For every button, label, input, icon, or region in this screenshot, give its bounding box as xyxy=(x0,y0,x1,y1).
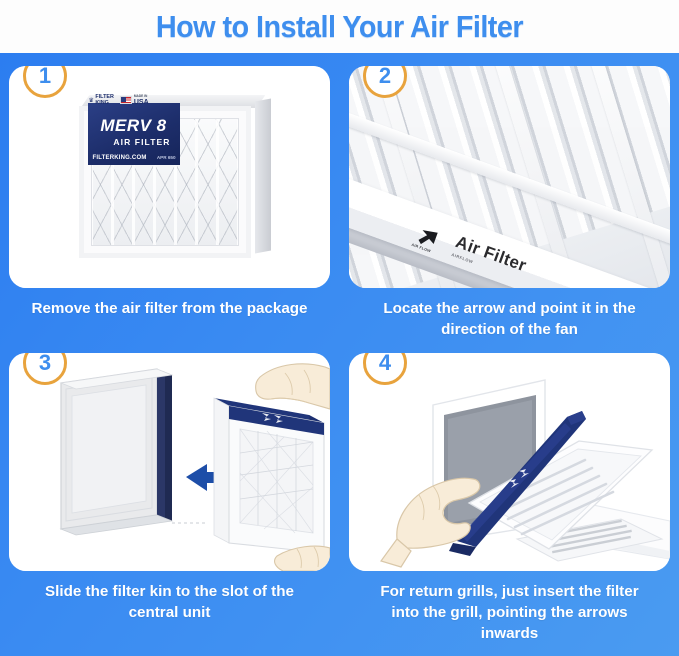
return-grille-diagram xyxy=(349,353,670,571)
page-header: How to Install Your Air Filter xyxy=(0,0,679,53)
infographic-body: ♛ FILTER KING MADE IN USA xyxy=(0,53,679,656)
air-filter-subtitle: AIR FILTER xyxy=(93,137,175,147)
central-unit-body xyxy=(61,369,172,535)
step-3-caption: Slide the filter kin to the slot of the … xyxy=(9,582,330,624)
step-2-caption-line-2: direction of the fan xyxy=(363,320,656,341)
apr-rating-text: APR 650 xyxy=(157,155,176,160)
step-card-2: AIR FLOW Air Filter AIRFLOW 2 Locate the… xyxy=(349,66,670,341)
step-3-image-card: 3 xyxy=(9,353,330,571)
step-4-caption: For return grills, just insert the filte… xyxy=(349,582,670,645)
made-in-usa-text: MADE IN USA xyxy=(134,95,149,105)
air-filter-product: ♛ FILTER KING MADE IN USA xyxy=(75,95,271,261)
page-title: How to Install Your Air Filter xyxy=(156,9,523,45)
usa-label: USA xyxy=(134,99,149,106)
usa-flag-icon xyxy=(120,96,132,104)
steps-grid: ♛ FILTER KING MADE IN USA xyxy=(0,53,679,656)
filter-king-logo: ♛ FILTER KING xyxy=(89,95,114,106)
illustration-slide-filter xyxy=(9,353,330,571)
crown-icon: ♛ xyxy=(89,98,94,104)
filter-side-face xyxy=(255,98,271,253)
step-1-image-card: ♛ FILTER KING MADE IN USA xyxy=(9,66,330,288)
step-4-caption-line-1: For return grills, just insert the filte… xyxy=(363,582,656,603)
brand-line-2: KING xyxy=(95,100,108,106)
filter-being-inserted xyxy=(214,398,324,553)
label-footer-row: FILTERKING.COM APR 650 xyxy=(93,155,176,161)
step-4-caption-line-2: into the grill, pointing the arrows xyxy=(363,603,656,624)
product-photo-2: AIR FLOW Air Filter AIRFLOW xyxy=(349,66,670,288)
step-3-caption-line-2: central unit xyxy=(23,603,316,624)
brand-text: FILTER KING xyxy=(95,95,113,106)
hand-lower xyxy=(275,546,330,571)
product-photo-1: ♛ FILTER KING MADE IN USA xyxy=(9,66,330,288)
merv-rating-text: MERV 8 xyxy=(93,117,175,134)
step-2-image-card: AIR FLOW Air Filter AIRFLOW 2 xyxy=(349,66,670,288)
step-card-4: 4 For return grills, just insert the fil… xyxy=(349,353,670,645)
step-1-caption: Remove the air filter from the package xyxy=(9,299,330,320)
brand-website-text: FILTERKING.COM xyxy=(93,155,147,161)
step-4-image-card: 4 xyxy=(349,353,670,571)
illustration-return-grille xyxy=(349,353,670,571)
filter-brand-row: ♛ FILTER KING MADE IN USA xyxy=(89,94,181,107)
step-2-caption: Locate the arrow and point it in the dir… xyxy=(349,299,670,341)
step-card-3: 3 Slide the filter kin to the slot of th… xyxy=(9,353,330,624)
slide-filter-diagram xyxy=(9,353,330,571)
step-4-caption-line-3: inwards xyxy=(363,624,656,645)
hand-upper xyxy=(256,364,330,409)
filter-navy-label: MERV 8 AIR FILTER FILTERKING.COM APR 650 xyxy=(88,103,180,165)
step-2-caption-line-1: Locate the arrow and point it in the xyxy=(363,299,656,320)
step-3-caption-line-1: Slide the filter kin to the slot of the xyxy=(23,582,316,603)
step-card-1: ♛ FILTER KING MADE IN USA xyxy=(9,66,330,320)
made-in-usa-badge: MADE IN USA xyxy=(120,95,149,105)
